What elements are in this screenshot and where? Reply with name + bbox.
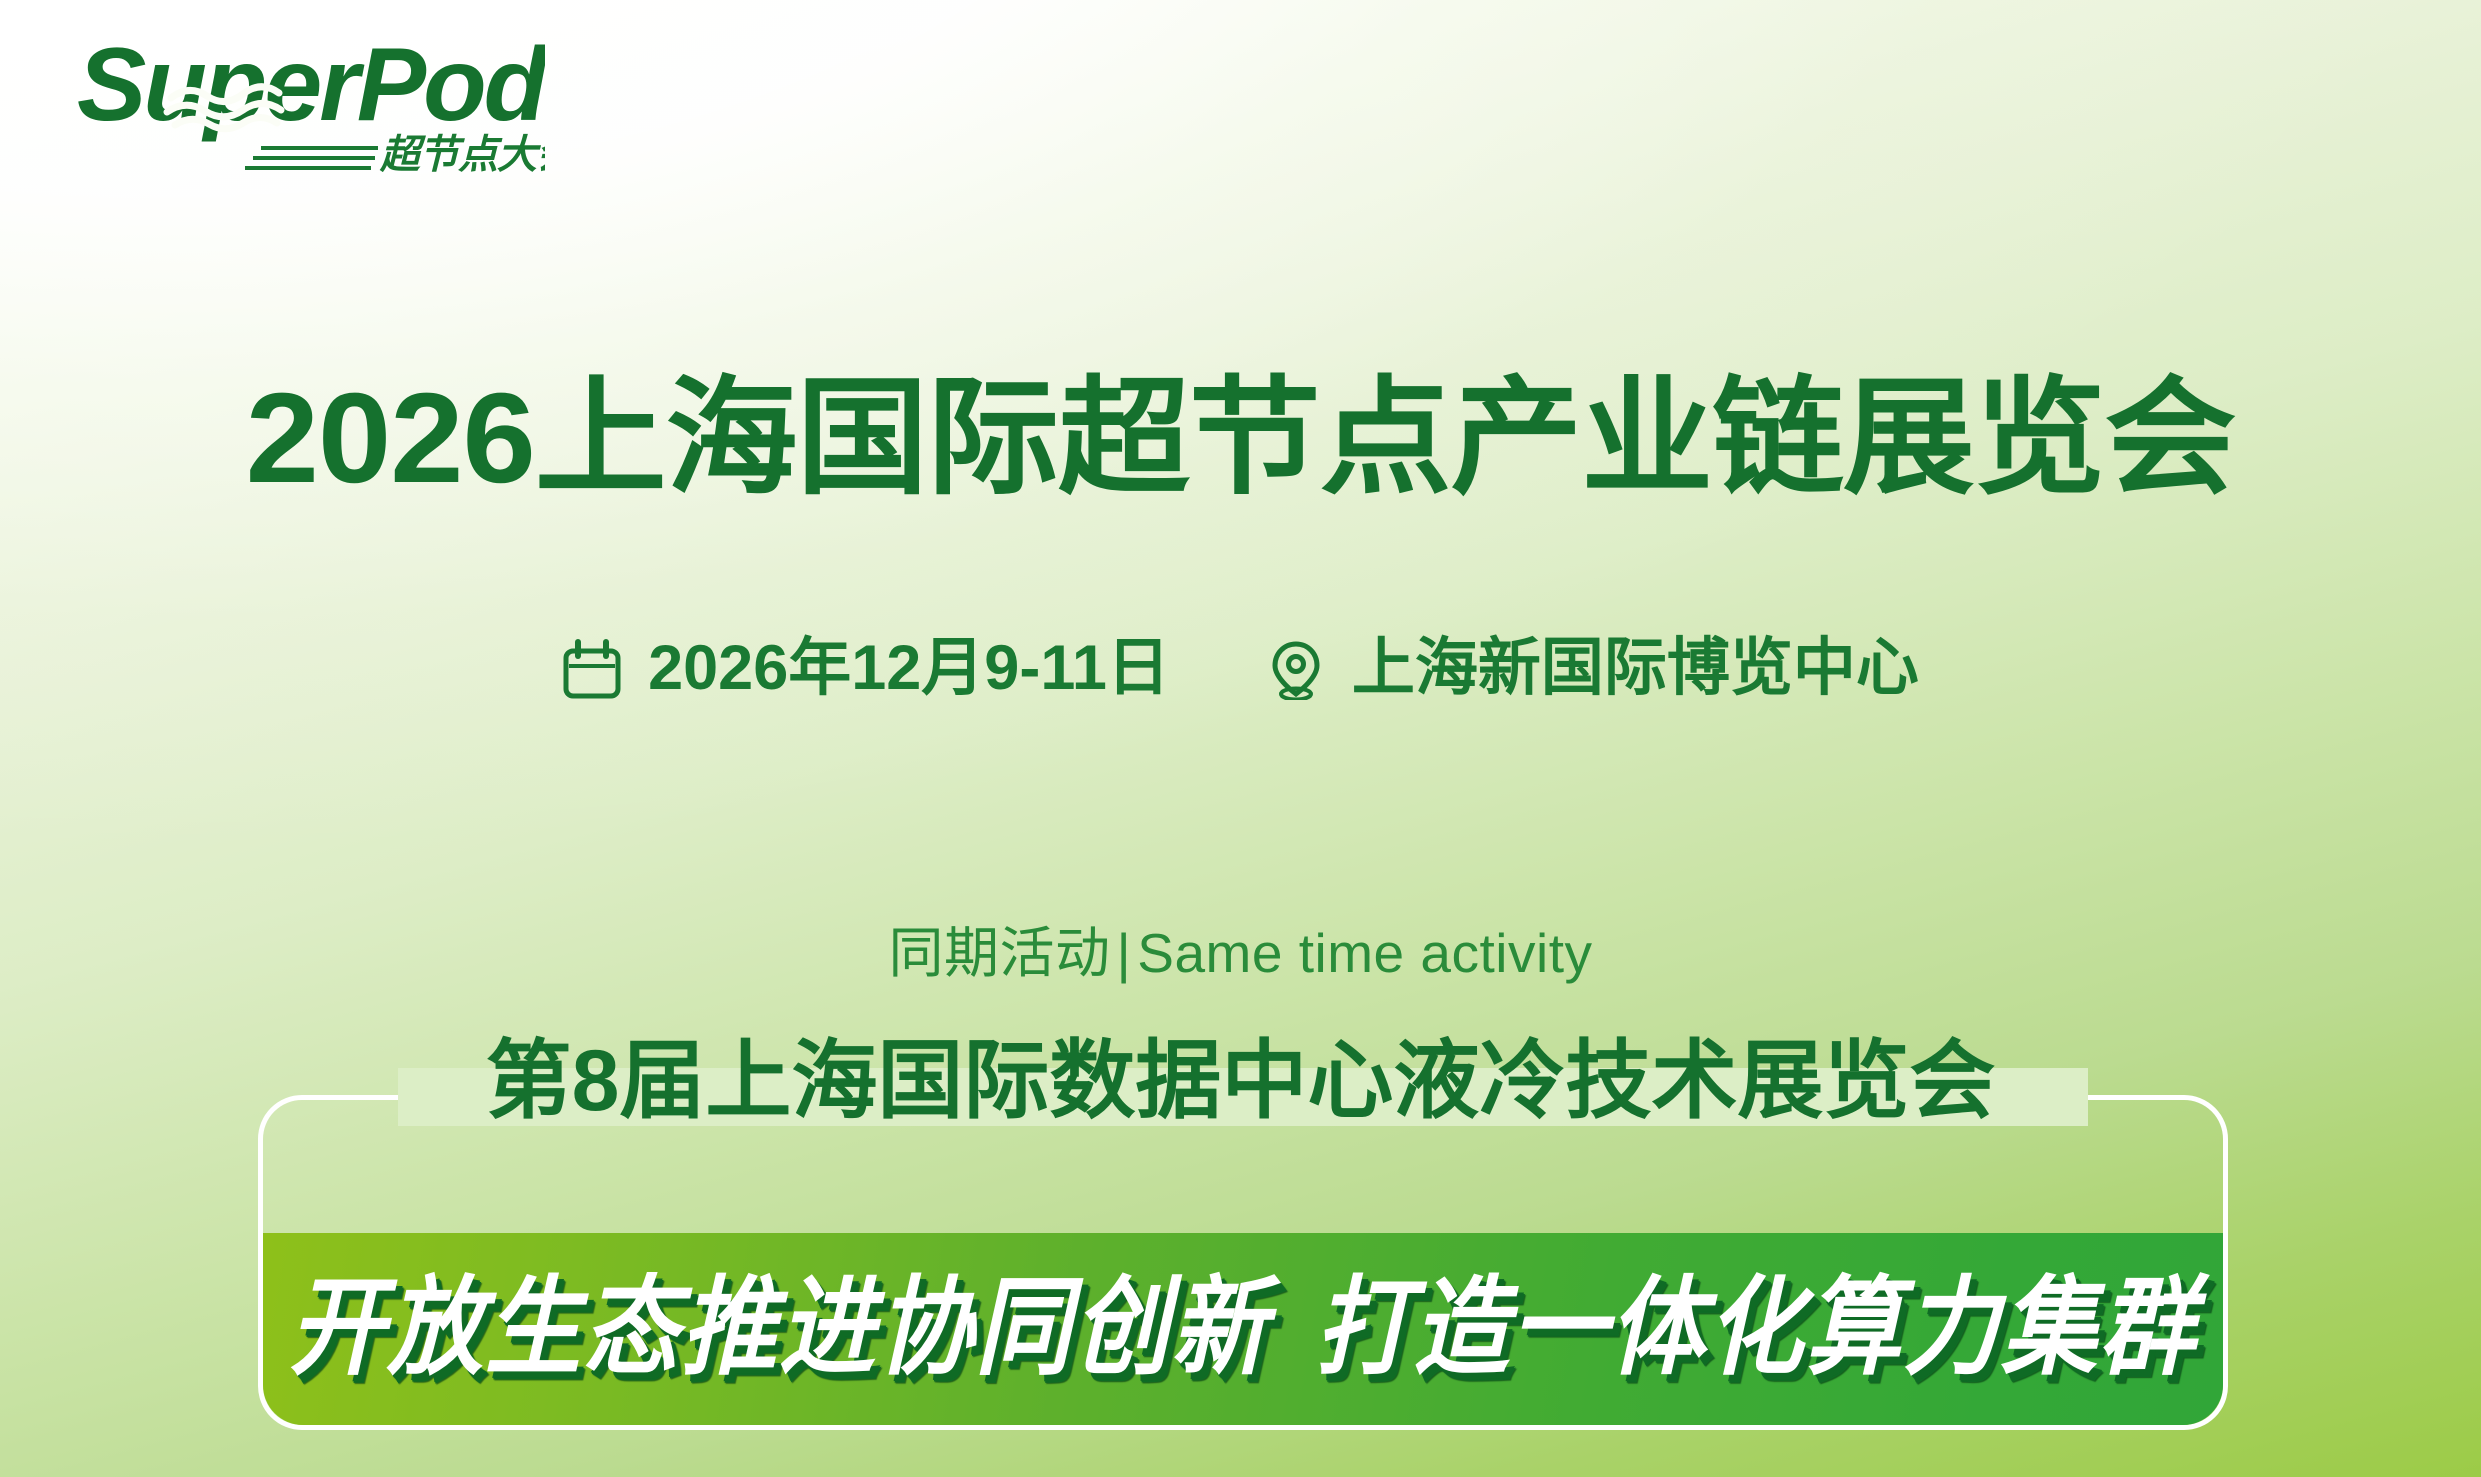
superpod-logo[interactable]: SuperPod 超节点大会 [75, 22, 545, 172]
slogan-part-one: 开放生态推进协同创新 [289, 1268, 1269, 1388]
same-time-activity-cn: 同期活动 [888, 922, 1110, 984]
event-date-label: 2026年12月9-11日 [648, 637, 1170, 700]
speed-lines-icon [245, 148, 378, 168]
svg-text:SuperPod: SuperPod [77, 27, 545, 143]
event-venue-label: 上海新国际博览中心 [1352, 637, 1919, 700]
poster-root: SuperPod 超节点大会 2026上海国际超节点产业链展览会 [0, 0, 2481, 1477]
map-pin-icon [1266, 638, 1326, 700]
slogan-text: 开放生态推进协同创新打造一体化算力集群 [263, 1267, 2223, 1391]
same-time-activity-en: Same time activity [1137, 922, 1592, 984]
event-meta-row: 2026年12月9-11日 上海新国际博览中心 [0, 637, 2481, 700]
page-title: 2026上海国际超节点产业链展览会 [0, 375, 2481, 503]
event-venue: 上海新国际博览中心 [1266, 637, 1919, 700]
event-date: 2026年12月9-11日 [562, 637, 1170, 700]
logo-chinese-name: 超节点大会 [379, 133, 545, 172]
calendar-icon [562, 638, 622, 700]
slogan-part-two: 打造一体化算力集群 [1315, 1268, 2197, 1388]
slogan-banner: 开放生态推进协同创新打造一体化算力集群 [263, 1233, 2223, 1425]
sub-exhibition-title: 第8届上海国际数据中心液冷技术展览会 [0, 1038, 2481, 1124]
same-time-activity: 同期活动|Same time activity [0, 908, 2481, 988]
same-time-activity-separator: | [1110, 922, 1137, 984]
